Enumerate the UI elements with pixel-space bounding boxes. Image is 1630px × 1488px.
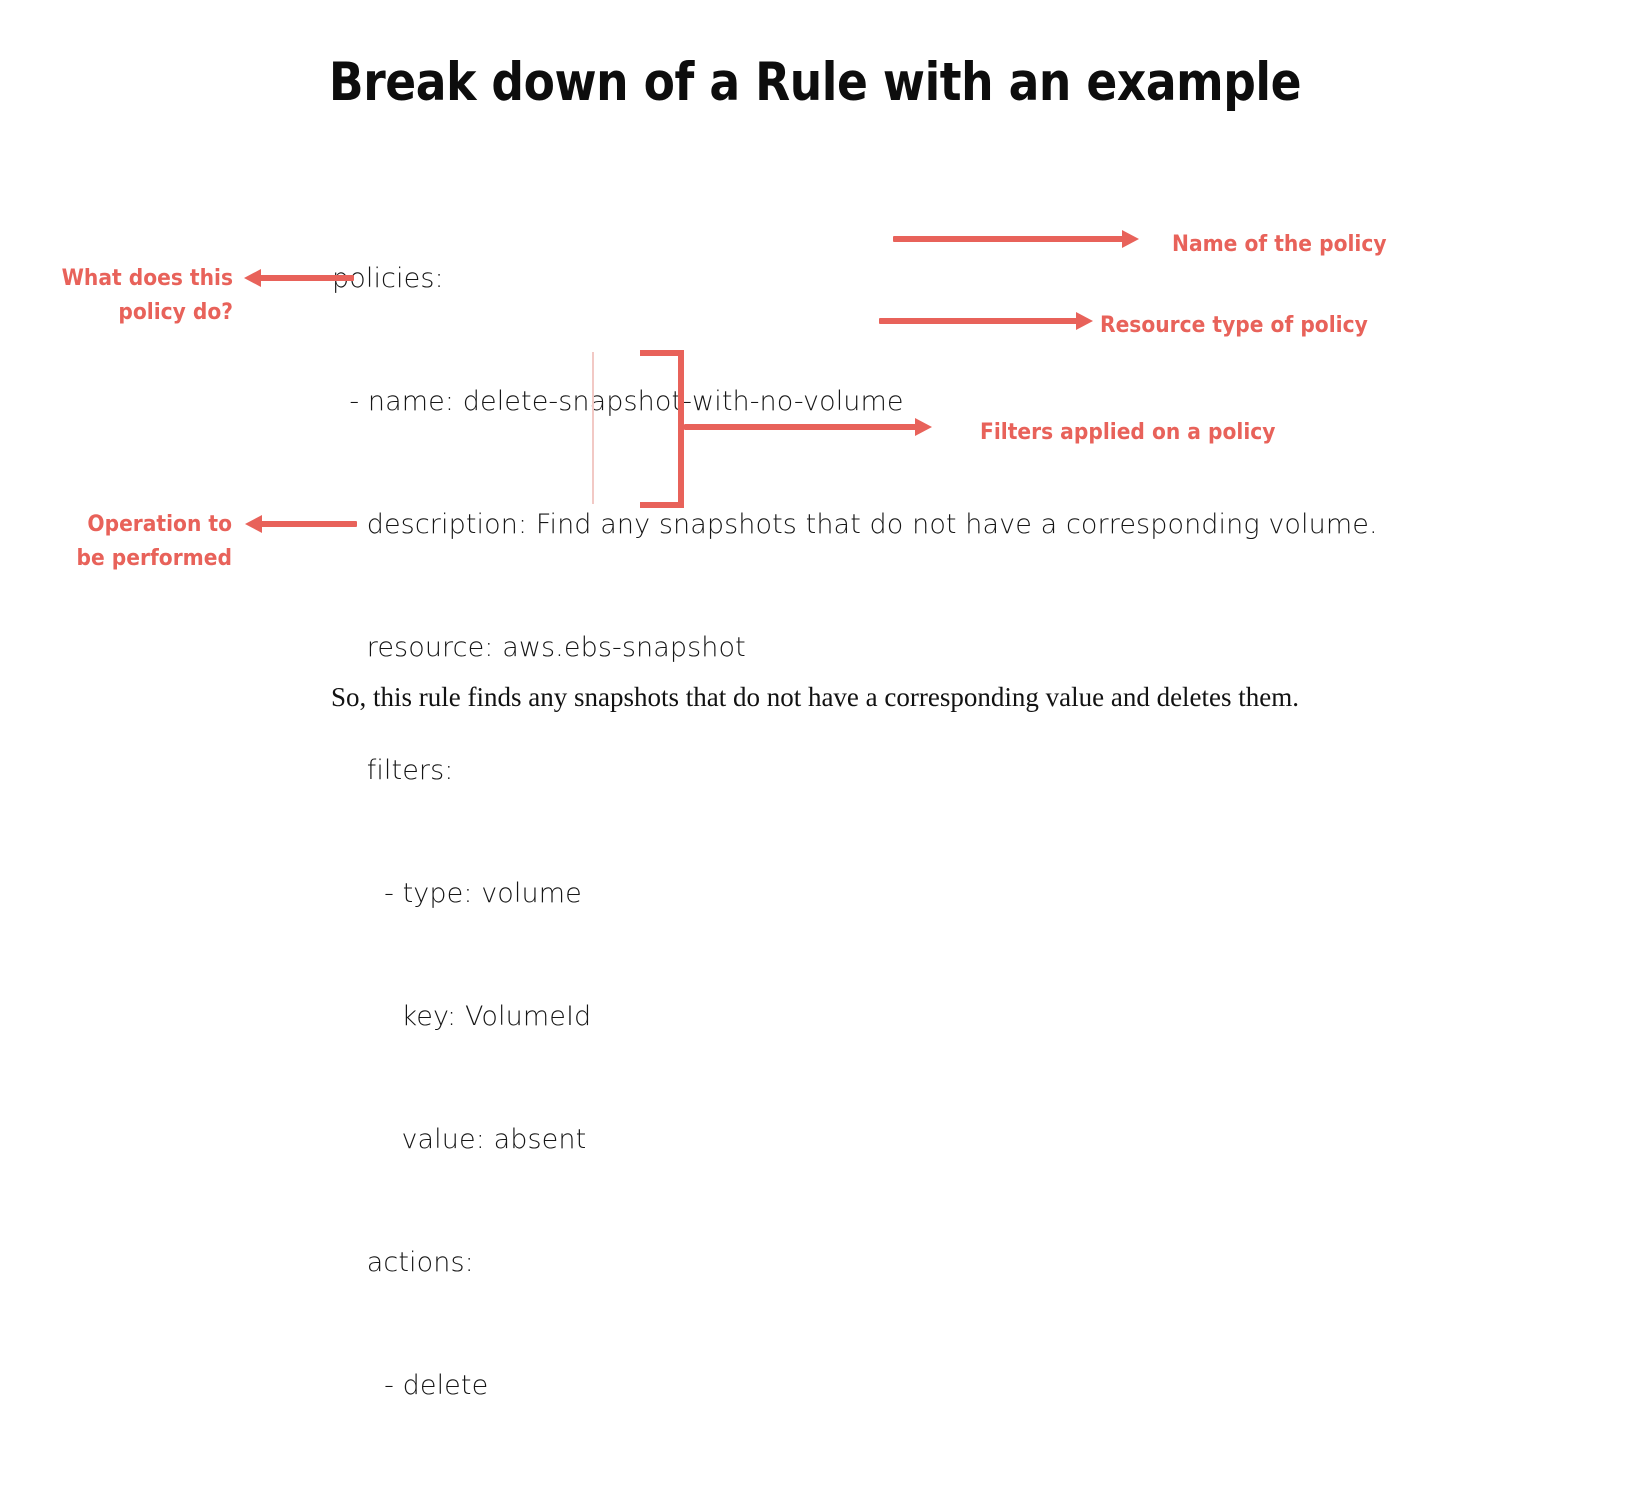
code-line-resource: resource: aws.ebs-snapshot	[332, 627, 1378, 668]
annotation-operation-performed: Operation to be performed	[19, 508, 232, 576]
arrowhead-right-icon	[1076, 312, 1093, 330]
filters-group-bracket	[640, 350, 684, 508]
arrow-resource-type	[879, 318, 1093, 324]
arrow-shaft	[879, 318, 1079, 324]
code-line-description: description: Find any snapshots that do …	[332, 504, 1378, 545]
summary-caption: So, this rule finds any snapshots that d…	[0, 682, 1630, 713]
annotation-what-does-policy-do: What does this policy do?	[19, 262, 233, 330]
code-line-action-delete: - delete	[332, 1365, 1378, 1406]
bracket-bottom-stub	[640, 502, 684, 508]
arrowhead-right-icon	[915, 418, 932, 436]
page-title: Break down of a Rule with an example	[114, 52, 1516, 113]
annotation-name-of-policy: Name of the policy	[1172, 228, 1448, 262]
arrow-shaft	[258, 275, 354, 281]
arrow-name-of-policy	[893, 236, 1139, 242]
arrow-filters-applied	[684, 424, 932, 430]
arrow-operation-performed	[245, 521, 357, 527]
arrow-shaft	[259, 521, 357, 527]
code-line-filters: filters:	[332, 750, 1378, 791]
filters-guide-line	[592, 352, 594, 504]
arrow-shaft	[684, 424, 918, 430]
arrow-shaft	[893, 236, 1125, 242]
code-line-policies: policies:	[332, 258, 1378, 299]
code-line-actions: actions:	[332, 1242, 1378, 1283]
code-line-filter-key: key: VolumeId	[332, 996, 1378, 1037]
annotation-filters-applied: Filters applied on a policy	[980, 416, 1348, 450]
code-line-filter-value: value: absent	[332, 1119, 1378, 1160]
arrowhead-left-icon	[245, 515, 262, 533]
arrowhead-right-icon	[1122, 230, 1139, 248]
arrowhead-left-icon	[244, 269, 261, 287]
code-line-filter-type: - type: volume	[332, 873, 1378, 914]
annotation-resource-type: Resource type of policy	[1100, 309, 1413, 343]
arrow-what-does-policy-do	[244, 275, 354, 281]
policy-code-block: policies: - name: delete-snapshot-with-n…	[332, 176, 1378, 1488]
slide-canvas: Break down of a Rule with an example pol…	[0, 0, 1630, 872]
